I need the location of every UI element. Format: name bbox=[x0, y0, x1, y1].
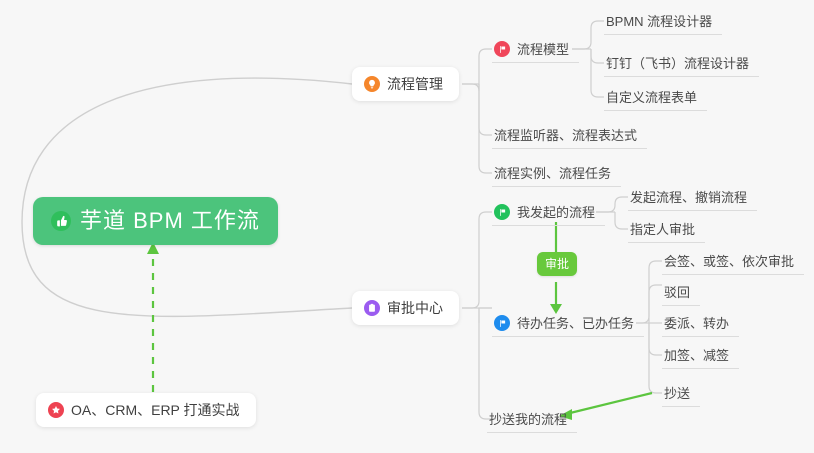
leaf-label: 抄送 bbox=[664, 387, 690, 400]
leaf-dingtalk-feishu-designer[interactable]: 钉钉（飞书）流程设计器 bbox=[604, 50, 759, 77]
leaf-label: 发起流程、撤销流程 bbox=[630, 191, 747, 204]
leaf-carbon-copy[interactable]: 抄送 bbox=[662, 380, 700, 407]
branch-node-process-management[interactable]: 流程管理 bbox=[352, 67, 459, 101]
leaf-label: 指定人审批 bbox=[630, 223, 695, 236]
leaf-label: 钉钉（飞书）流程设计器 bbox=[606, 57, 749, 70]
leaf-label: 自定义流程表单 bbox=[606, 91, 697, 104]
lightbulb-icon bbox=[364, 76, 380, 92]
branch-label: 审批中心 bbox=[387, 301, 443, 315]
leaf-add-remove-sign[interactable]: 加签、减签 bbox=[662, 342, 739, 369]
thumbs-up-icon bbox=[51, 211, 71, 231]
branch-label: 流程管理 bbox=[387, 77, 443, 91]
leaf-start-cancel-process[interactable]: 发起流程、撤销流程 bbox=[628, 184, 757, 211]
leaf-delegate-transfer[interactable]: 委派、转办 bbox=[662, 310, 739, 337]
leaf-label: 加签、减签 bbox=[664, 349, 729, 362]
star-icon bbox=[48, 402, 64, 418]
leaf-custom-process-form[interactable]: 自定义流程表单 bbox=[604, 84, 707, 111]
leaf-assignee-approval[interactable]: 指定人审批 bbox=[628, 216, 705, 243]
leaf-countersign-orsign-sequential[interactable]: 会签、或签、依次审批 bbox=[662, 248, 804, 275]
leaf-process-instance-task[interactable]: 流程实例、流程任务 bbox=[492, 160, 621, 187]
node-process-model[interactable]: 流程模型 bbox=[492, 36, 579, 63]
leaf-label: 驳回 bbox=[664, 286, 690, 299]
footnote-label: OA、CRM、ERP 打通实战 bbox=[71, 403, 240, 417]
flag-icon-blue bbox=[494, 315, 510, 331]
mindmap-canvas: 芋道 BPM 工作流 流程管理 流程模型 BPMN 流程设计器 钉钉（飞书）流程… bbox=[0, 0, 814, 453]
clipboard-icon bbox=[364, 300, 380, 316]
footnote-node-oa-crm-erp[interactable]: OA、CRM、ERP 打通实战 bbox=[36, 393, 256, 427]
leaf-label: 流程实例、流程任务 bbox=[494, 167, 611, 180]
leaf-label: 委派、转办 bbox=[664, 317, 729, 330]
node-label: 流程模型 bbox=[517, 43, 569, 56]
leaf-label: 抄送我的流程 bbox=[489, 413, 567, 426]
root-label: 芋道 BPM 工作流 bbox=[80, 210, 260, 232]
root-node[interactable]: 芋道 BPM 工作流 bbox=[33, 197, 278, 245]
branch-node-approval-center[interactable]: 审批中心 bbox=[352, 291, 459, 325]
flag-icon-red bbox=[494, 41, 510, 57]
leaf-cc-to-me-process[interactable]: 抄送我的流程 bbox=[487, 406, 577, 433]
approval-badge[interactable]: 审批 bbox=[537, 252, 577, 276]
leaf-label: 会签、或签、依次审批 bbox=[664, 255, 794, 268]
node-todo-done-tasks[interactable]: 待办任务、已办任务 bbox=[492, 310, 644, 337]
badge-label: 审批 bbox=[545, 258, 569, 270]
leaf-process-listener-expression[interactable]: 流程监听器、流程表达式 bbox=[492, 122, 647, 149]
flag-icon-green bbox=[494, 204, 510, 220]
leaf-label: BPMN 流程设计器 bbox=[606, 15, 712, 28]
node-label: 我发起的流程 bbox=[517, 206, 595, 219]
leaf-label: 流程监听器、流程表达式 bbox=[494, 129, 637, 142]
leaf-reject[interactable]: 驳回 bbox=[662, 279, 700, 306]
node-label: 待办任务、已办任务 bbox=[517, 317, 634, 330]
leaf-bpmn-designer[interactable]: BPMN 流程设计器 bbox=[604, 8, 722, 35]
node-my-initiated-process[interactable]: 我发起的流程 bbox=[492, 199, 605, 226]
